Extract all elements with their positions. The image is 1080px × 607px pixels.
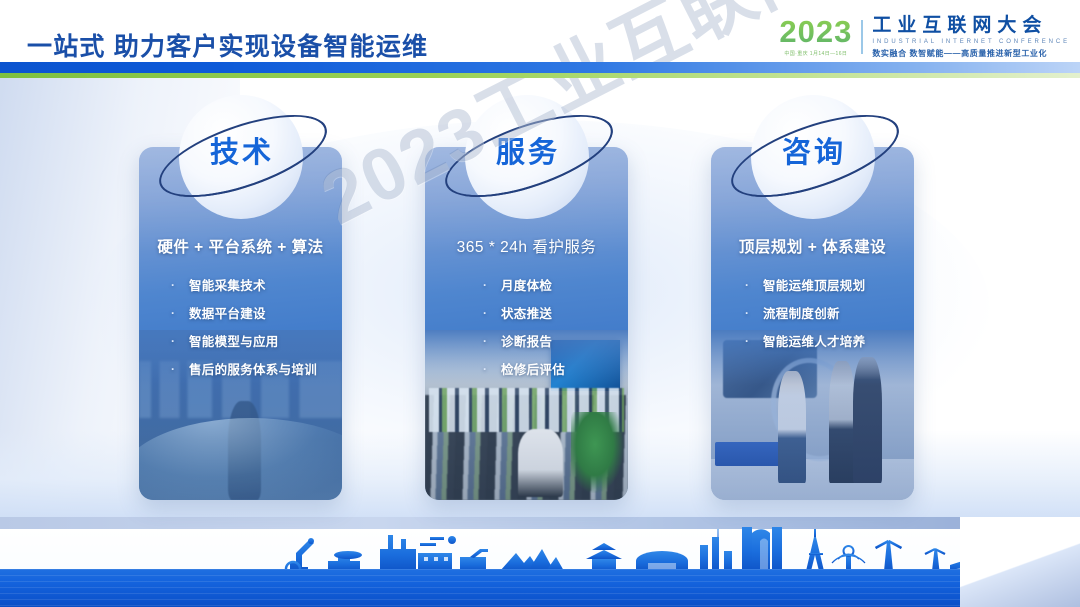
list-item-label: 诊断报告 (501, 331, 552, 350)
conference-logo: 2023 中国·重庆 1月14日—16日 工业互联网大会 INDUSTRIAL … (779, 16, 1070, 59)
list-item-label: 售后的服务体系与培训 (189, 359, 317, 378)
card-headline: 365 * 24h 看护服务 (425, 235, 628, 257)
logo-year: 2023 (779, 16, 852, 47)
bullet-dot-icon: · (745, 307, 755, 319)
bullet-dot-icon: · (483, 279, 493, 291)
logo-year-block: 2023 中国·重庆 1月14日—16日 (779, 16, 861, 57)
card-bullet-list: ·月度体检 ·状态推送 ·诊断报告 ·检修后评估 (425, 275, 628, 387)
list-item-label: 数据平台建设 (189, 303, 266, 322)
bullet-dot-icon: · (171, 307, 181, 319)
card-headline: 顶层规划 + 体系建设 (711, 235, 914, 257)
list-item: ·售后的服务体系与培训 (171, 359, 342, 378)
slide-canvas: 2023工业互联网大会 一站式 助力客户实现设备智能运维 2023 中国·重庆 … (0, 0, 1080, 607)
bullet-dot-icon: · (483, 335, 493, 347)
card-bullet-list: ·智能采集技术 ·数据平台建设 ·智能模型与应用 ·售后的服务体系与培训 (139, 275, 342, 387)
list-item: ·月度体检 (483, 275, 628, 294)
list-item-label: 月度体检 (501, 275, 552, 294)
list-item-label: 状态推送 (501, 303, 552, 322)
logo-name-en: INDUSTRIAL INTERNET CONFERENCE (872, 39, 1070, 45)
list-item: ·状态推送 (483, 303, 628, 322)
bullet-dot-icon: · (171, 279, 181, 291)
cards-container: 硬件 + 平台系统 + 算法 ·智能采集技术 ·数据平台建设 ·智能模型与应用 … (0, 0, 1080, 607)
card-orb-badge: 服务 (443, 95, 613, 245)
card-title: 技术 (157, 129, 327, 171)
card-orb-badge: 咨询 (729, 95, 899, 245)
logo-name-block: 工业互联网大会 INDUSTRIAL INTERNET CONFERENCE 数… (863, 16, 1070, 59)
card-title: 服务 (443, 129, 613, 171)
card-headline: 硬件 + 平台系统 + 算法 (139, 235, 342, 257)
logo-year-subtitle: 中国·重庆 1月14日—16日 (779, 50, 852, 57)
list-item: ·检修后评估 (483, 359, 628, 378)
list-item-label: 智能采集技术 (189, 275, 266, 294)
card-service[interactable]: 365 * 24h 看护服务 ·月度体检 ·状态推送 ·诊断报告 ·检修后评估 … (425, 147, 628, 500)
header-rule-green (0, 73, 1080, 78)
card-consulting[interactable]: 顶层规划 + 体系建设 ·智能运维顶层规划 ·流程制度创新 ·智能运维人才培养 … (711, 147, 914, 500)
logo-tagline: 数实融合 数智赋能——高质量推进新型工业化 (872, 48, 1070, 59)
list-item-label: 智能模型与应用 (189, 331, 279, 350)
card-bullet-list: ·智能运维顶层规划 ·流程制度创新 ·智能运维人才培养 (711, 275, 914, 359)
bullet-dot-icon: · (171, 363, 181, 375)
list-item: ·智能采集技术 (171, 275, 342, 294)
list-item: ·流程制度创新 (745, 303, 914, 322)
list-item-label: 检修后评估 (501, 359, 565, 378)
list-item: ·数据平台建设 (171, 303, 342, 322)
bullet-dot-icon: · (171, 335, 181, 347)
header-rule-blue (0, 62, 1080, 73)
card-technology[interactable]: 硬件 + 平台系统 + 算法 ·智能采集技术 ·数据平台建设 ·智能模型与应用 … (139, 147, 342, 500)
card-title: 咨询 (729, 129, 899, 171)
list-item: ·智能运维人才培养 (745, 331, 914, 350)
list-item-label: 流程制度创新 (763, 303, 840, 322)
bullet-dot-icon: · (745, 335, 755, 347)
list-item: ·智能模型与应用 (171, 331, 342, 350)
list-item-label: 智能运维人才培养 (763, 331, 865, 350)
list-item: ·智能运维顶层规划 (745, 275, 914, 294)
page-title: 一站式 助力客户实现设备智能运维 (27, 27, 428, 63)
bullet-dot-icon: · (483, 363, 493, 375)
list-item-label: 智能运维顶层规划 (763, 275, 865, 294)
bullet-dot-icon: · (745, 279, 755, 291)
logo-name-cn: 工业互联网大会 (872, 16, 1070, 35)
bullet-dot-icon: · (483, 307, 493, 319)
card-orb-badge: 技术 (157, 95, 327, 245)
list-item: ·诊断报告 (483, 331, 628, 350)
